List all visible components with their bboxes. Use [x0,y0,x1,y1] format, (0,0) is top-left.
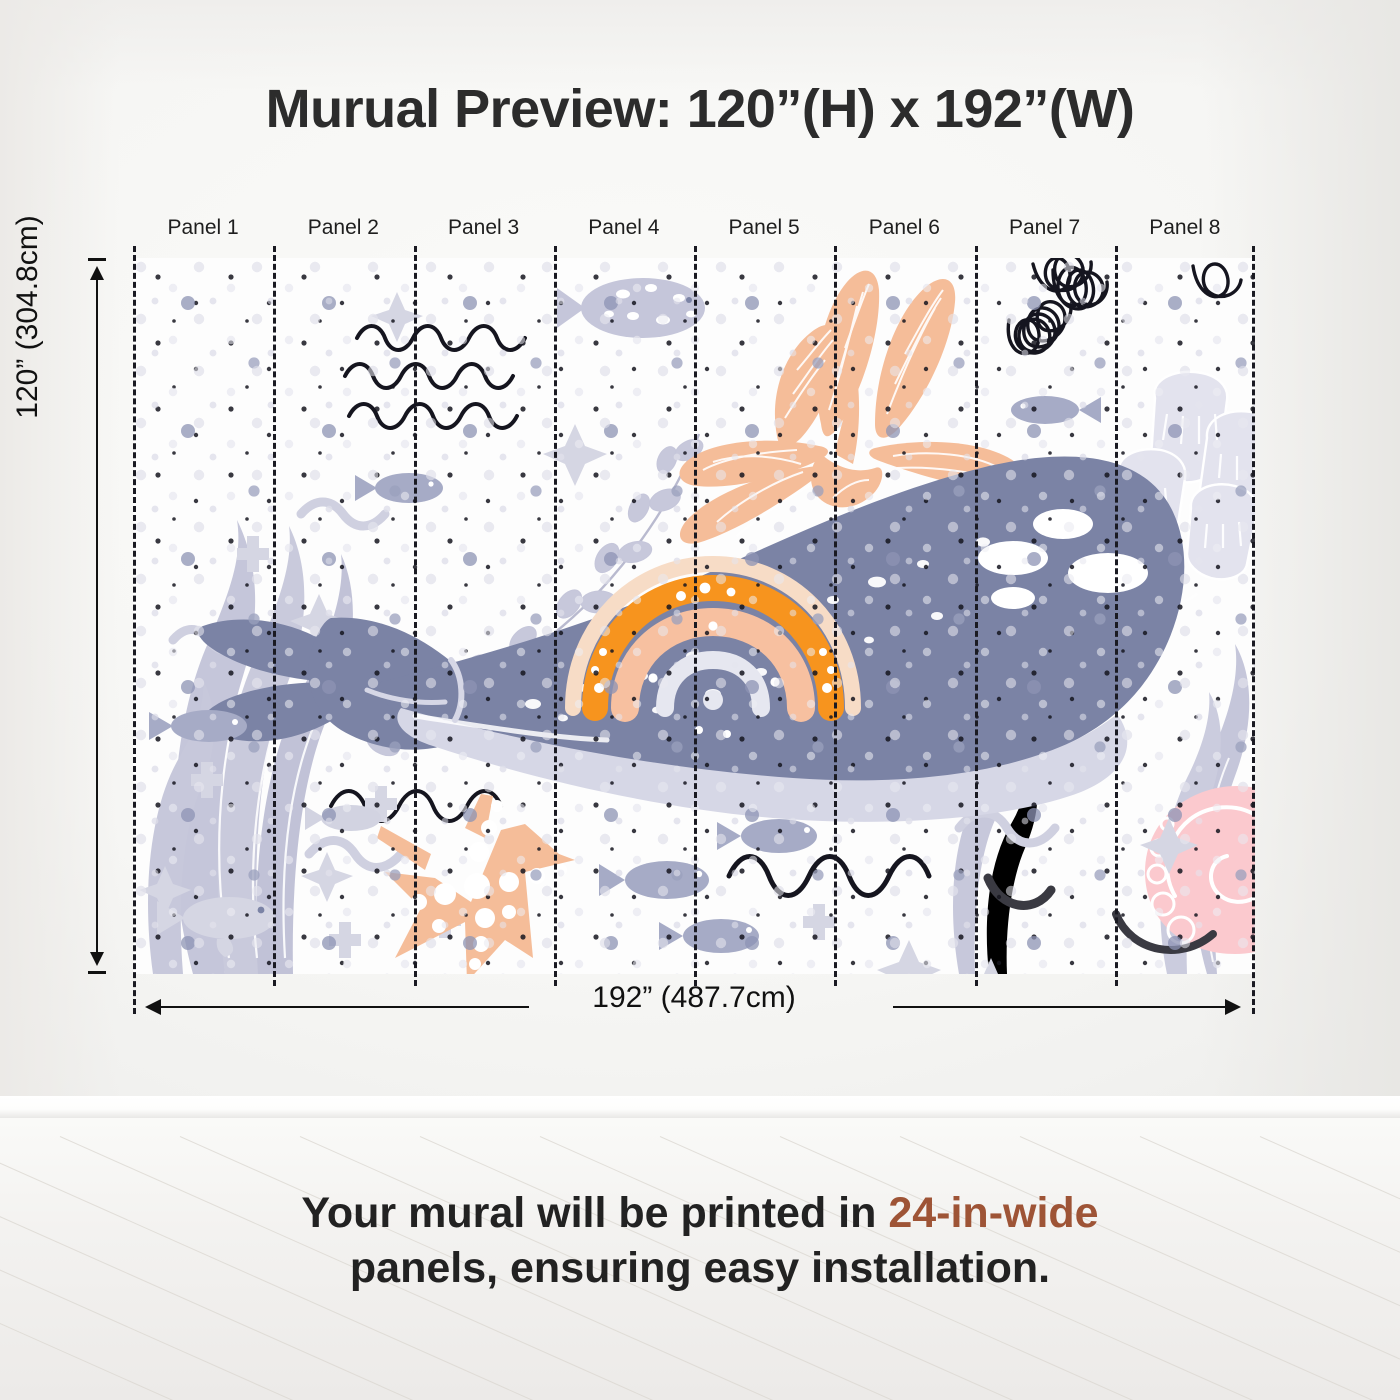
page-title: Murual Preview: 120”(H) x 192”(W) [0,78,1400,140]
panel-label-2: Panel 2 [273,216,413,248]
panel-label-7: Panel 7 [975,216,1115,248]
height-arrow-up-icon [90,266,104,280]
footer-caption: Your mural will be printed in 24-in-wide… [0,1186,1400,1296]
caption-line-1-text: Your mural will be printed in [301,1189,888,1237]
panel-label-4: Panel 4 [554,216,694,248]
caption-highlight: 24-in-wide [888,1189,1098,1237]
panel-label-1: Panel 1 [133,216,273,248]
panel-label-8: Panel 8 [1115,216,1255,248]
caption-line-2: panels, ensuring easy installation. [0,1241,1400,1296]
height-dimension [86,258,108,974]
width-label: 192” (487.7cm) [133,981,1255,1015]
panel-label-row: Panel 1 Panel 2 Panel 3 Panel 4 Panel 5 … [133,216,1255,248]
wall-top-shading [0,0,1400,90]
panel-label-6: Panel 6 [834,216,974,248]
caption-line-1: Your mural will be printed in 24-in-wide [0,1186,1400,1241]
height-arrow-down-icon [90,952,104,966]
baseboard [0,1096,1400,1118]
height-cap-top [88,258,106,261]
height-line [96,272,98,960]
mural-artwork [133,258,1255,974]
panel-label-5: Panel 5 [694,216,834,248]
panel-label-3: Panel 3 [414,216,554,248]
height-cap-bottom [88,971,106,974]
height-label: 120” (304.8cm) [11,167,45,467]
width-dimension: 192” (487.7cm) [133,995,1255,1019]
mural-preview-screen: Murual Preview: 120”(H) x 192”(W) Panel … [0,0,1400,1400]
mural-frame [133,258,1255,974]
